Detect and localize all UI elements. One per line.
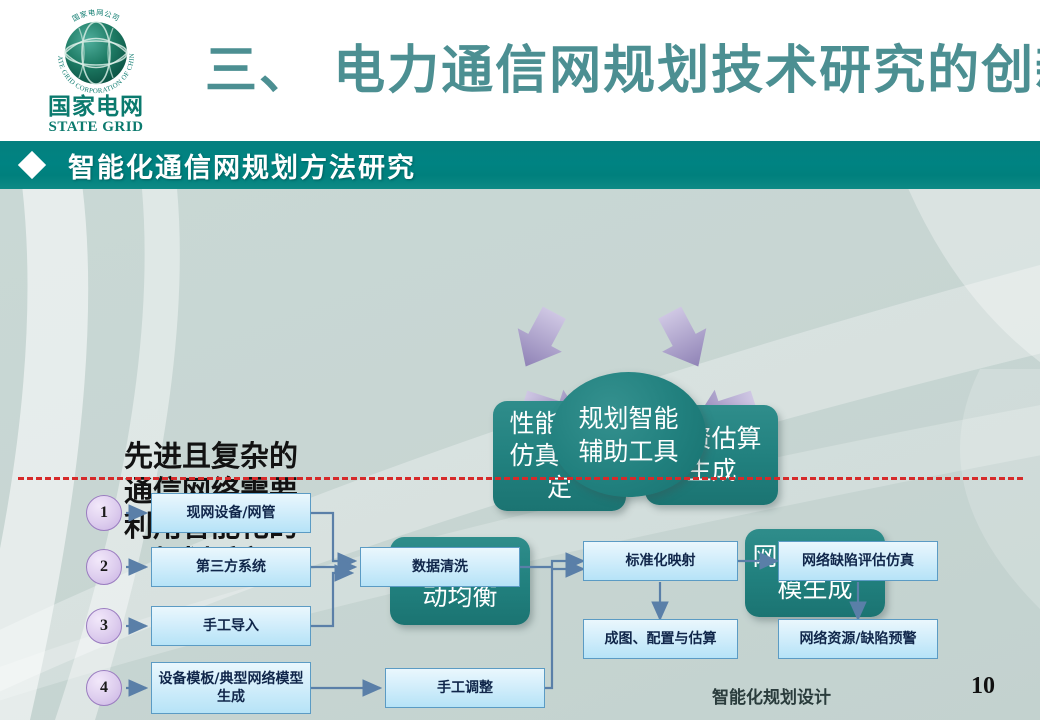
flow-box-third-party[interactable]: 第三方系统 (151, 547, 311, 587)
flow-box-defect-simulation[interactable]: 网络缺陷评估仿真 (778, 541, 938, 581)
flow-step-2-num: 2 (100, 558, 108, 576)
flow-box-manual-import[interactable]: 手工导入 (151, 606, 311, 646)
flow-step-4-num: 4 (100, 679, 108, 697)
flow-step-number-3[interactable]: 3 (86, 608, 122, 644)
flow-box-data-clean[interactable]: 数据清洗 (360, 547, 520, 587)
concept-center-label: 规划智能辅助工具 (579, 402, 679, 468)
flow-box-standard-mapping[interactable]: 标准化映射 (583, 541, 738, 581)
svg-text:国家电网公司: 国家电网公司 (71, 8, 121, 23)
flow-box-template-generate[interactable]: 设备模板/典型网络模型生成 (151, 662, 311, 714)
diamond-bullet-icon (18, 151, 46, 179)
flow-step-number-1[interactable]: 1 (86, 495, 122, 531)
page-title: 三、 电力通信网规划技术研究的创新 (205, 38, 1025, 106)
page-number: 10 (971, 673, 995, 700)
flow-step-number-2[interactable]: 2 (86, 549, 122, 585)
flow-step-number-4[interactable]: 4 (86, 670, 122, 706)
flow-box-resource-warning[interactable]: 网络资源/缺陷预警 (778, 619, 938, 659)
flow-step-3-num: 3 (100, 617, 108, 635)
section-subtitle-text: 智能化通信网规划方法研究 (68, 146, 416, 185)
flow-box-plot-config-estimate[interactable]: 成图、配置与估算 (583, 619, 738, 659)
flow-step-1-num: 1 (100, 504, 108, 522)
flow-box-current-network-label: 现网设备/网管 (186, 504, 275, 522)
flow-box-third-party-label: 第三方系统 (196, 558, 266, 576)
logo-cn-name: 国家电网 (26, 95, 166, 119)
flow-caption: 智能化规划设计 (712, 683, 831, 708)
flow-box-manual-adjust-label: 手工调整 (437, 679, 493, 697)
red-dashed-divider (18, 477, 1023, 480)
arrow-invest-to-center (648, 301, 721, 378)
left-message-line-1: 先进且复杂的 (76, 439, 346, 474)
state-grid-logo: 国家电网公司 STATE GRID CORPORATION OF CHINA 国… (26, 8, 166, 132)
flow-box-data-clean-label: 数据清洗 (412, 558, 468, 576)
flow-box-template-generate-label: 设备模板/典型网络模型生成 (156, 670, 306, 706)
slide-header: 国家电网公司 STATE GRID CORPORATION OF CHINA 国… (0, 0, 1040, 140)
flow-box-current-network[interactable]: 现网设备/网管 (151, 493, 311, 533)
section-subtitle-bar: 智能化通信网规划方法研究 (0, 141, 1040, 189)
flow-box-resource-warning-label: 网络资源/缺陷预警 (799, 630, 916, 648)
flow-box-standard-mapping-label: 标准化映射 (626, 552, 696, 570)
flow-box-defect-simulation-label: 网络缺陷评估仿真 (802, 552, 914, 570)
flow-box-manual-adjust[interactable]: 手工调整 (385, 668, 545, 708)
slide: 国家电网公司 STATE GRID CORPORATION OF CHINA 国… (0, 0, 1040, 720)
state-grid-globe-icon: 国家电网公司 STATE GRID CORPORATION OF CHINA (49, 8, 143, 94)
connector-box3-to-clean (311, 573, 352, 626)
arrow-perf-to-center (504, 301, 577, 378)
flow-box-manual-import-label: 手工导入 (203, 617, 259, 635)
flow-box-plot-config-estimate-label: 成图、配置与估算 (605, 630, 717, 648)
logo-en-name: STATE GRID (26, 119, 166, 135)
slide-body: 性能参数仿真与设定 投资估算生成 网络资源自动均衡 网络建设规模生成 规划智能辅… (0, 189, 1040, 720)
